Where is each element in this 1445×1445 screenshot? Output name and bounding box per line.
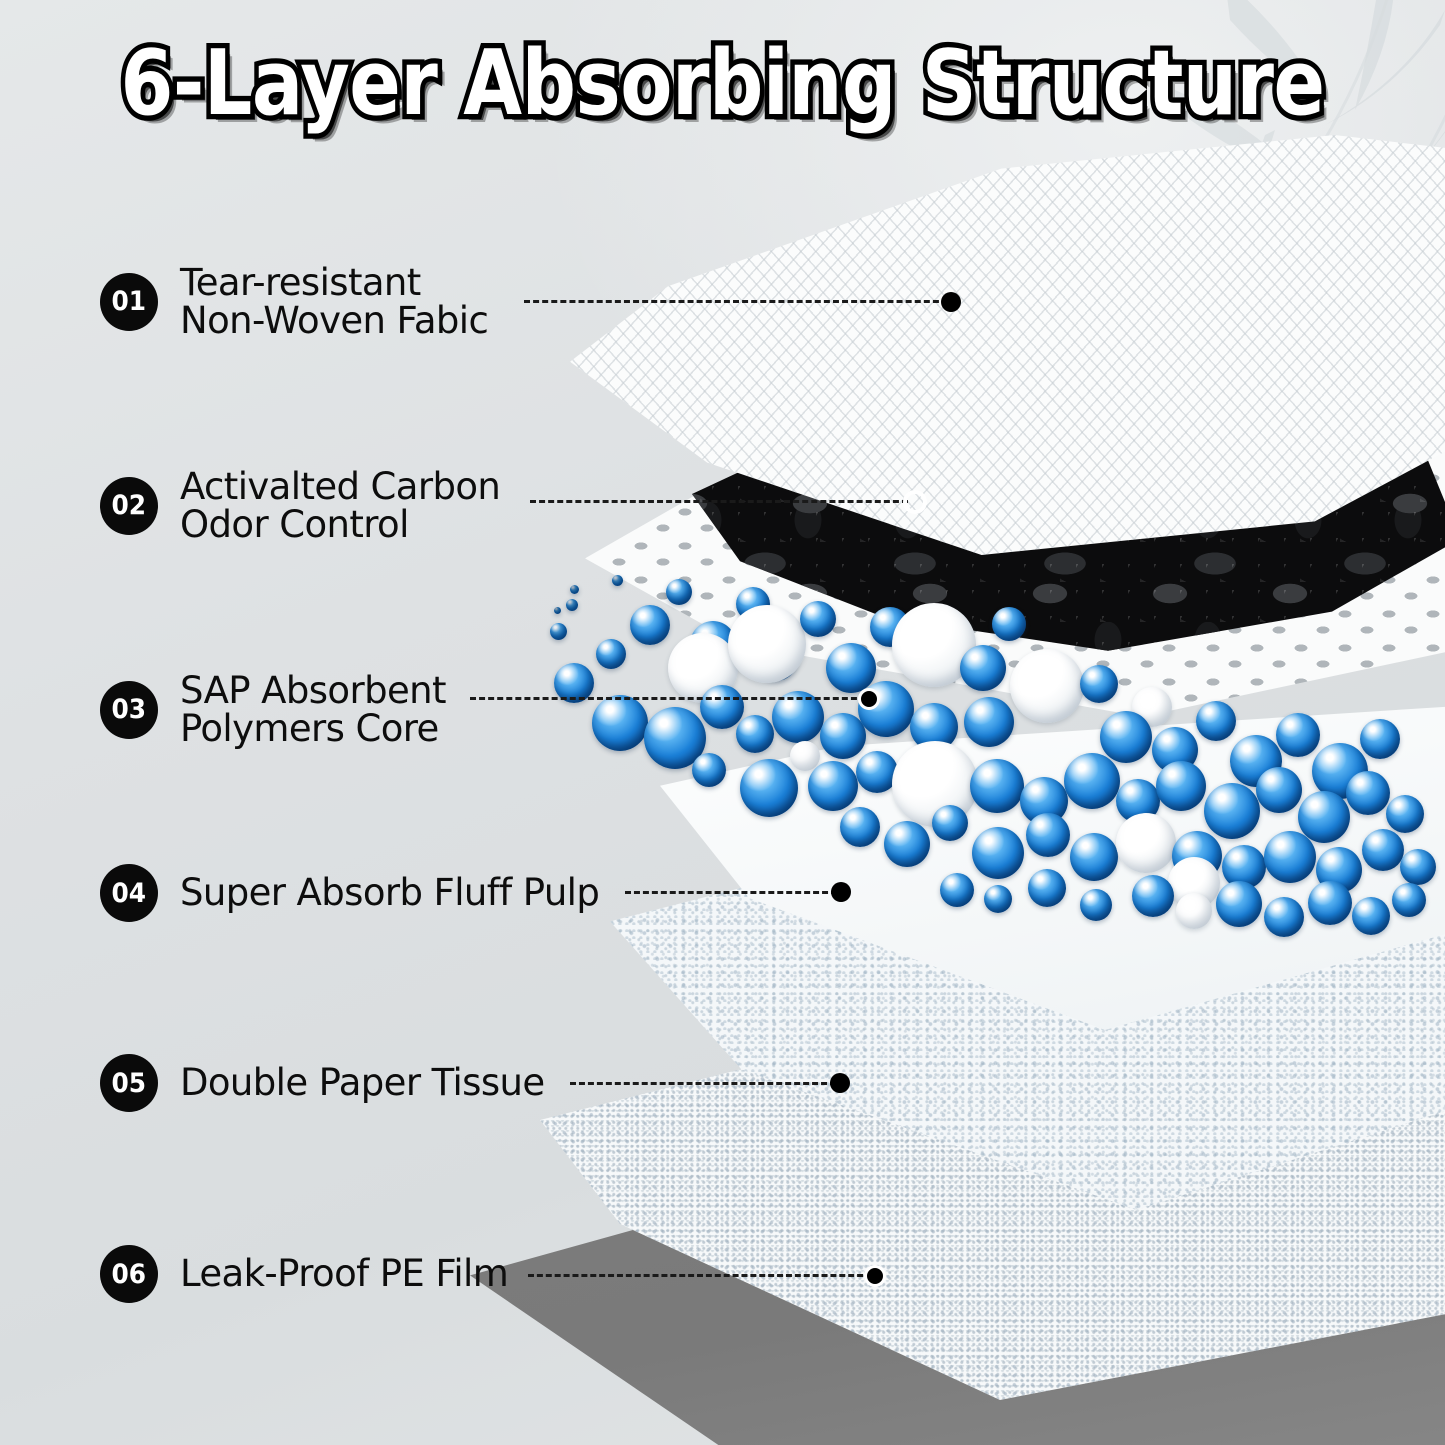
callout-label-2-line1: Activalted Carbon (180, 465, 500, 508)
badge-number-01: 01 (100, 273, 158, 331)
callout-label-3-line2: Polymers Core (180, 710, 446, 748)
callout-label-5: Double Paper Tissue (180, 1064, 545, 1102)
badge-number-06: 06 (100, 1245, 158, 1303)
leader-dot-2 (903, 490, 927, 514)
callout-layer-5[interactable]: 05 Double Paper Tissue (100, 1054, 545, 1112)
sap-bead-field (540, 545, 1445, 995)
page-title: 6-Layer Absorbing Structure (120, 36, 1324, 131)
leader-line-5 (570, 1082, 836, 1085)
callout-layer-6[interactable]: 06 Leak-Proof PE Film (100, 1245, 508, 1303)
leader-dot-6 (864, 1265, 886, 1287)
callout-layer-2[interactable]: 02 Activalted Carbon Odor Control (100, 468, 500, 543)
callout-layer-3[interactable]: 03 SAP Absorbent Polymers Core (100, 672, 446, 747)
leader-dot-1 (941, 292, 961, 312)
callout-label-6-line1: Leak-Proof PE Film (180, 1252, 508, 1295)
callout-label-4: Super Absorb Fluff Pulp (180, 874, 599, 912)
title-block: 6-Layer Absorbing Structure (0, 36, 1445, 117)
callout-label-1-line2: Non-Woven Fabic (180, 302, 488, 340)
leader-line-4 (625, 891, 837, 894)
callout-label-3: SAP Absorbent Polymers Core (180, 672, 446, 747)
callout-label-5-line1: Double Paper Tissue (180, 1061, 545, 1104)
infographic-poster: 6-Layer Absorbing Structure 01 Tear-resi… (0, 0, 1445, 1445)
badge-number-04: 04 (100, 864, 158, 922)
leader-dot-4 (831, 882, 851, 902)
leader-line-6 (528, 1274, 872, 1277)
callout-label-3-line1: SAP Absorbent (180, 669, 446, 712)
badge-number-02: 02 (100, 477, 158, 535)
callout-label-6: Leak-Proof PE Film (180, 1255, 508, 1293)
callout-label-1-line1: Tear-resistant (180, 261, 421, 304)
badge-number-05: 05 (100, 1054, 158, 1112)
leader-line-2 (530, 500, 908, 503)
callout-label-1: Tear-resistant Non-Woven Fabic (180, 264, 488, 339)
leader-dot-3 (858, 688, 880, 710)
callout-layer-4[interactable]: 04 Super Absorb Fluff Pulp (100, 864, 599, 922)
callout-label-2: Activalted Carbon Odor Control (180, 468, 500, 543)
leader-line-3 (470, 697, 866, 700)
leader-line-1 (524, 300, 948, 303)
callout-layer-1[interactable]: 01 Tear-resistant Non-Woven Fabic (100, 264, 488, 339)
callout-label-4-line1: Super Absorb Fluff Pulp (180, 871, 599, 914)
callout-label-2-line2: Odor Control (180, 506, 500, 544)
badge-number-03: 03 (100, 681, 158, 739)
leader-dot-5 (830, 1073, 850, 1093)
